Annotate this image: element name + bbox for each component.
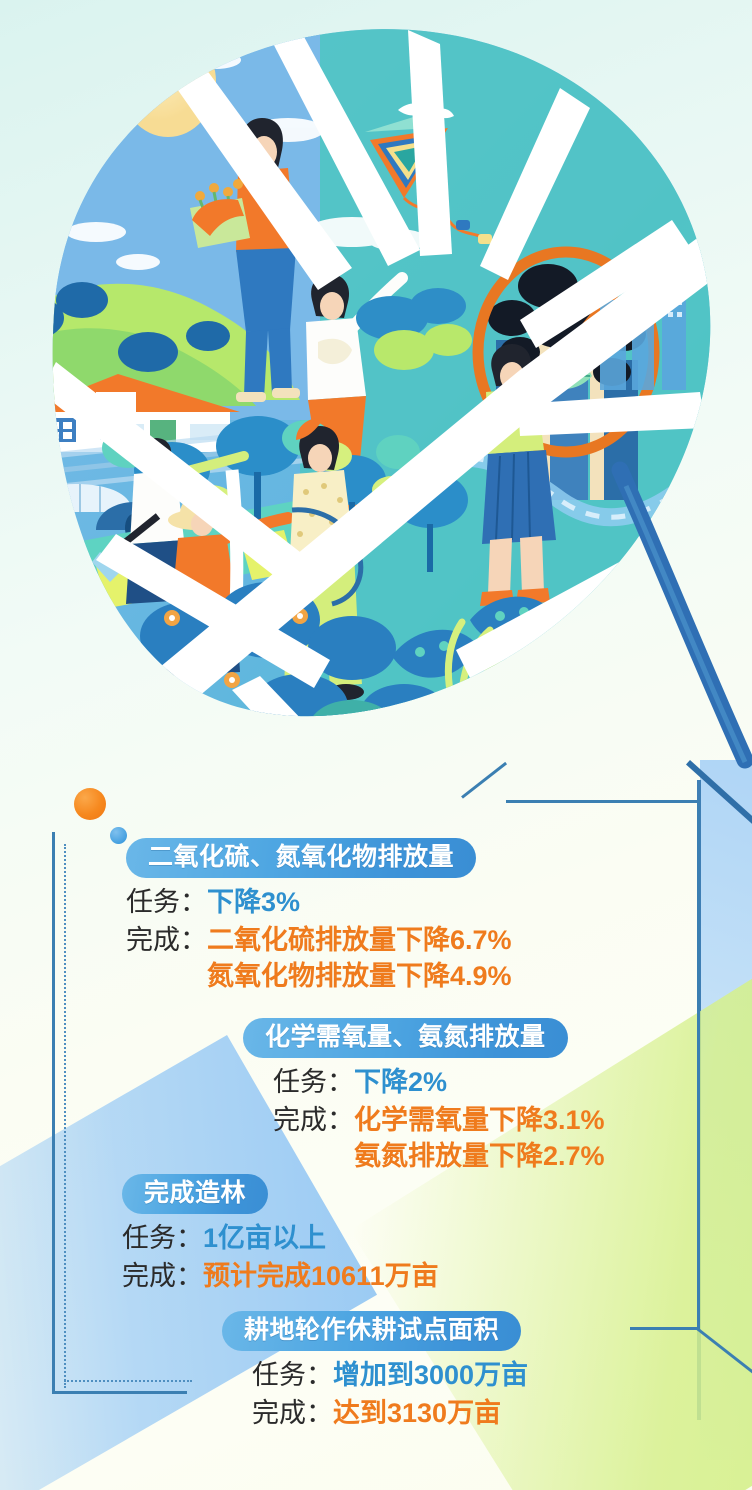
stat-block-afforestation: 完成造林 任务： 1亿亩以上 完成： 预计完成10611万亩 [122, 1174, 439, 1295]
stat-value: 下降2% [354, 1065, 447, 1101]
stat-row-values: 二氧化硫排放量下降6.7% 氮氧化物排放量下降4.9% [207, 923, 512, 994]
stat-value: 二氧化硫排放量下降6.7% [207, 923, 512, 959]
frame-right-line [697, 800, 700, 1330]
stat-rows: 任务： 1亿亩以上 完成： 预计完成10611万亩 [122, 1221, 439, 1294]
stat-rows: 任务： 下降2% 完成： 化学需氧量下降3.1% 氨氮排放量下降2.7% [243, 1065, 605, 1174]
stat-block-sulfur-nitrogen-emissions: 二氧化硫、氮氧化物排放量 任务： 下降3% 完成： 二氧化硫排放量下降6.7% … [126, 838, 512, 994]
stat-row-completed: 完成： 预计完成10611万亩 [122, 1259, 439, 1295]
frame-top-line [506, 800, 700, 803]
stat-block-title: 耕地轮作休耕试点面积 [222, 1311, 521, 1351]
stat-row-values: 增加到3000万亩 [333, 1358, 528, 1394]
frame-bottom-right-line [630, 1327, 700, 1330]
stat-row-label: 任务： [252, 1358, 333, 1394]
stat-value: 预计完成10611万亩 [203, 1259, 439, 1295]
infographic-page: 二氧化硫、氮氧化物排放量 任务： 下降3% 完成： 二氧化硫排放量下降6.7% … [0, 0, 752, 1490]
stat-row-values: 化学需氧量下降3.1% 氨氮排放量下降2.7% [354, 1103, 605, 1174]
stat-row-label: 完成： [122, 1259, 203, 1295]
stat-row-label: 完成： [252, 1396, 333, 1432]
frame-bottom-line [52, 1391, 187, 1394]
stat-block-title: 二氧化硫、氮氧化物排放量 [126, 838, 476, 878]
stat-row-completed: 完成： 达到3130万亩 [252, 1396, 528, 1432]
stat-row-values: 预计完成10611万亩 [203, 1259, 439, 1295]
stat-row-label: 任务： [273, 1065, 354, 1101]
stat-row-values: 下降2% [354, 1065, 447, 1101]
frame-bottom-right-diagonal [696, 1327, 752, 1403]
stat-rows: 任务： 下降3% 完成： 二氧化硫排放量下降6.7% 氮氧化物排放量下降4.9% [126, 885, 512, 994]
stat-row-values: 下降3% [207, 885, 300, 921]
stat-value: 氨氮排放量下降2.7% [354, 1139, 605, 1175]
stat-value: 增加到3000万亩 [333, 1358, 528, 1394]
stat-value: 1亿亩以上 [203, 1221, 326, 1257]
decorative-dot-orange [74, 788, 106, 820]
stat-row-completed: 完成： 化学需氧量下降3.1% 氨氮排放量下降2.7% [273, 1103, 605, 1174]
frame-left-line [52, 832, 55, 1394]
stat-row-task: 任务： 1亿亩以上 [122, 1221, 439, 1257]
stat-block-crop-rotation-fallow-pilot-area: 耕地轮作休耕试点面积 任务： 增加到3000万亩 完成： 达到3130万亩 [222, 1311, 528, 1432]
stat-block-title: 完成造林 [122, 1174, 268, 1214]
stat-row-task: 任务： 下降3% [126, 885, 512, 921]
eco-leaf-illustration [0, 0, 752, 790]
stat-value: 达到3130万亩 [333, 1396, 501, 1432]
stat-rows: 任务： 增加到3000万亩 完成： 达到3130万亩 [222, 1358, 528, 1431]
stat-value: 氮氧化物排放量下降4.9% [207, 959, 512, 995]
decorative-dot-blue [110, 827, 127, 844]
stat-row-completed: 完成： 二氧化硫排放量下降6.7% 氮氧化物排放量下降4.9% [126, 923, 512, 994]
background-stripe-diagonal [686, 760, 752, 965]
stat-block-title: 化学需氧量、氨氮排放量 [243, 1018, 568, 1058]
stat-row-values: 达到3130万亩 [333, 1396, 501, 1432]
stat-value: 化学需氧量下降3.1% [354, 1103, 605, 1139]
stat-row-label: 任务： [126, 885, 207, 921]
stat-row-label: 完成： [273, 1103, 354, 1139]
frame-dotted-bottom [64, 1380, 192, 1382]
stat-row-task: 任务： 增加到3000万亩 [252, 1358, 528, 1394]
stat-row-label: 任务： [122, 1221, 203, 1257]
frame-dotted-left [64, 844, 66, 1388]
stat-row-label: 完成： [126, 923, 207, 959]
stat-block-cod-ammonia-emissions: 化学需氧量、氨氮排放量 任务： 下降2% 完成： 化学需氧量下降3.1% 氨氮排… [243, 1018, 605, 1174]
background-wash-right-blue [700, 760, 752, 1460]
stat-value: 下降3% [207, 885, 300, 921]
stat-row-values: 1亿亩以上 [203, 1221, 326, 1257]
stat-row-task: 任务： 下降2% [273, 1065, 605, 1101]
